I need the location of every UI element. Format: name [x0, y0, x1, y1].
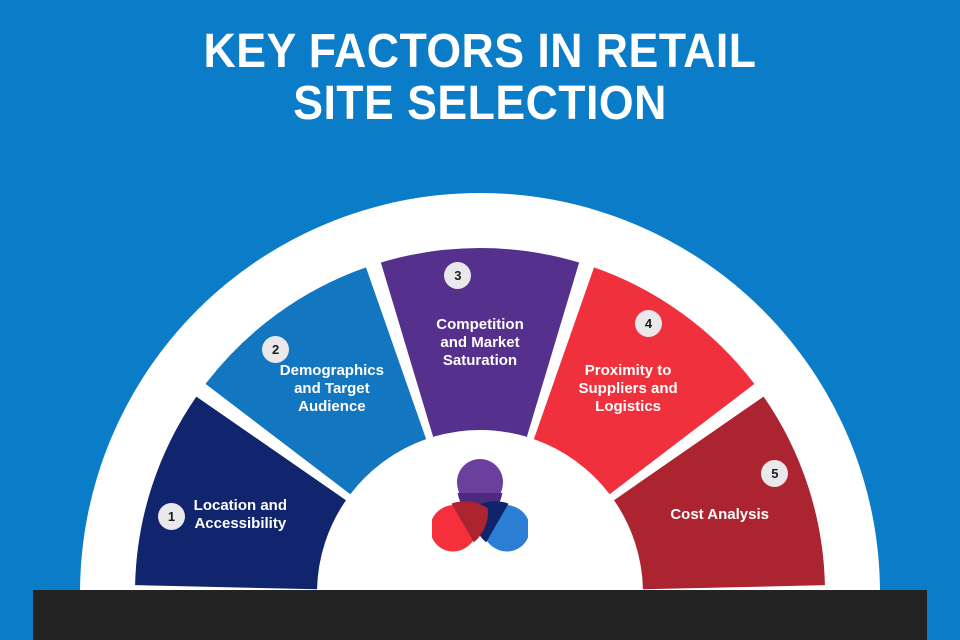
segment-badge-1[interactable]: 1 [158, 503, 185, 530]
triple-map-pin-logo [432, 455, 528, 559]
title-line-1: KEY FACTORS IN RETAIL [34, 26, 927, 78]
segment-label-1[interactable]: Location and Accessibility [175, 497, 305, 533]
segment-label-5[interactable]: Cost Analysis [655, 506, 785, 524]
segment-label-4[interactable]: Proximity to Suppliers and Logistics [563, 362, 693, 416]
page-title: KEY FACTORS IN RETAIL SITE SELECTION [0, 26, 960, 130]
bottom-bar [33, 590, 927, 640]
segment-badge-4[interactable]: 4 [635, 310, 662, 337]
segment-label-3[interactable]: Competition and Market Saturation [415, 316, 545, 370]
segment-label-2[interactable]: Demographics and Target Audience [267, 362, 397, 416]
infographic-canvas: KEY FACTORS IN RETAIL SITE SELECTION Loc… [0, 0, 960, 640]
segment-badge-2[interactable]: 2 [262, 336, 289, 363]
title-line-2: SITE SELECTION [34, 78, 927, 130]
